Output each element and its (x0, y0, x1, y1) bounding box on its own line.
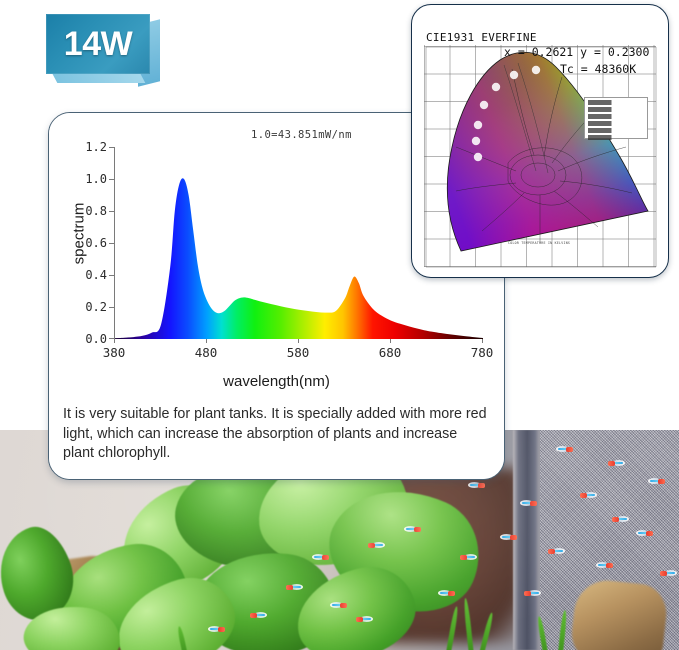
y-tick-label: 0.2 (73, 300, 107, 314)
cie-chromaticity-panel: COLOR TEMPERATURE IN KELVINS CIE1931 EVE… (411, 4, 669, 278)
cie-title: CIE1931 EVERFINE (426, 31, 537, 44)
x-tick-label: 780 (460, 345, 504, 360)
cie-source-legend (584, 97, 648, 139)
x-tick-label: 680 (368, 345, 412, 360)
y-tick-label: 0.4 (73, 268, 107, 282)
chart-y-ticks: 1.2 1.0 0.8 0.6 0.4 0.2 0.0 (69, 147, 107, 339)
badge-label: 14W (46, 14, 150, 74)
x-tick-label: 480 (184, 345, 228, 360)
y-tick-label: 1.0 (73, 172, 107, 186)
cie-xy-readout: x = 0.2621 y = 0.2300 (504, 45, 649, 59)
y-tick-label: 0.6 (73, 236, 107, 250)
cie-footer-text: COLOR TEMPERATURE IN KELVINS (508, 241, 570, 245)
y-tick-label: 1.2 (73, 140, 107, 154)
chart-x-axis-label: wavelength(nm) (55, 373, 498, 390)
cie-tc-readout: Tc = 48360K (560, 62, 636, 76)
chart-scale-note: 1.0=43.851mW/nm (251, 129, 352, 141)
x-tick-label: 580 (276, 345, 320, 360)
y-tick-label: 0.8 (73, 204, 107, 218)
wattage-badge: 14W (38, 8, 173, 96)
badge-body: 14W (46, 14, 150, 74)
description-paragraph: It is very suitable for plant tanks. It … (63, 405, 491, 464)
y-tick-label: 0.0 (73, 332, 107, 346)
x-tick-label: 380 (92, 345, 136, 360)
